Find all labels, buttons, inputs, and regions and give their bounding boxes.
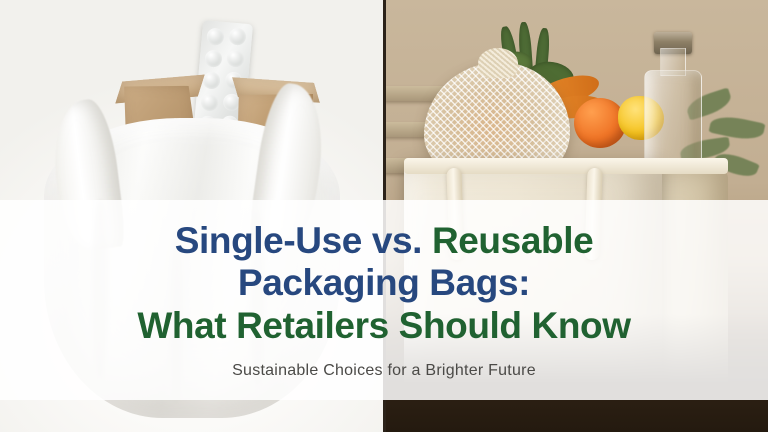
mesh-bag-knot — [478, 48, 518, 78]
headline-line-1-blue: Single-Use vs. — [175, 220, 432, 261]
hero-text-block: Single-Use vs. Reusable Packaging Bags: … — [0, 200, 768, 400]
headline-line-3: What Retailers Should Know — [137, 305, 630, 347]
headline-line-1-green: Reusable — [432, 220, 593, 261]
hero-subtitle: Sustainable Choices for a Brighter Futur… — [232, 362, 536, 380]
article-hero-banner: Single-Use vs. Reusable Packaging Bags: … — [0, 0, 768, 432]
hero-headline: Single-Use vs. Reusable Packaging Bags: … — [137, 220, 630, 347]
headline-line-1: Single-Use vs. Reusable — [137, 220, 630, 262]
headline-line-2: Packaging Bags: — [137, 262, 630, 304]
